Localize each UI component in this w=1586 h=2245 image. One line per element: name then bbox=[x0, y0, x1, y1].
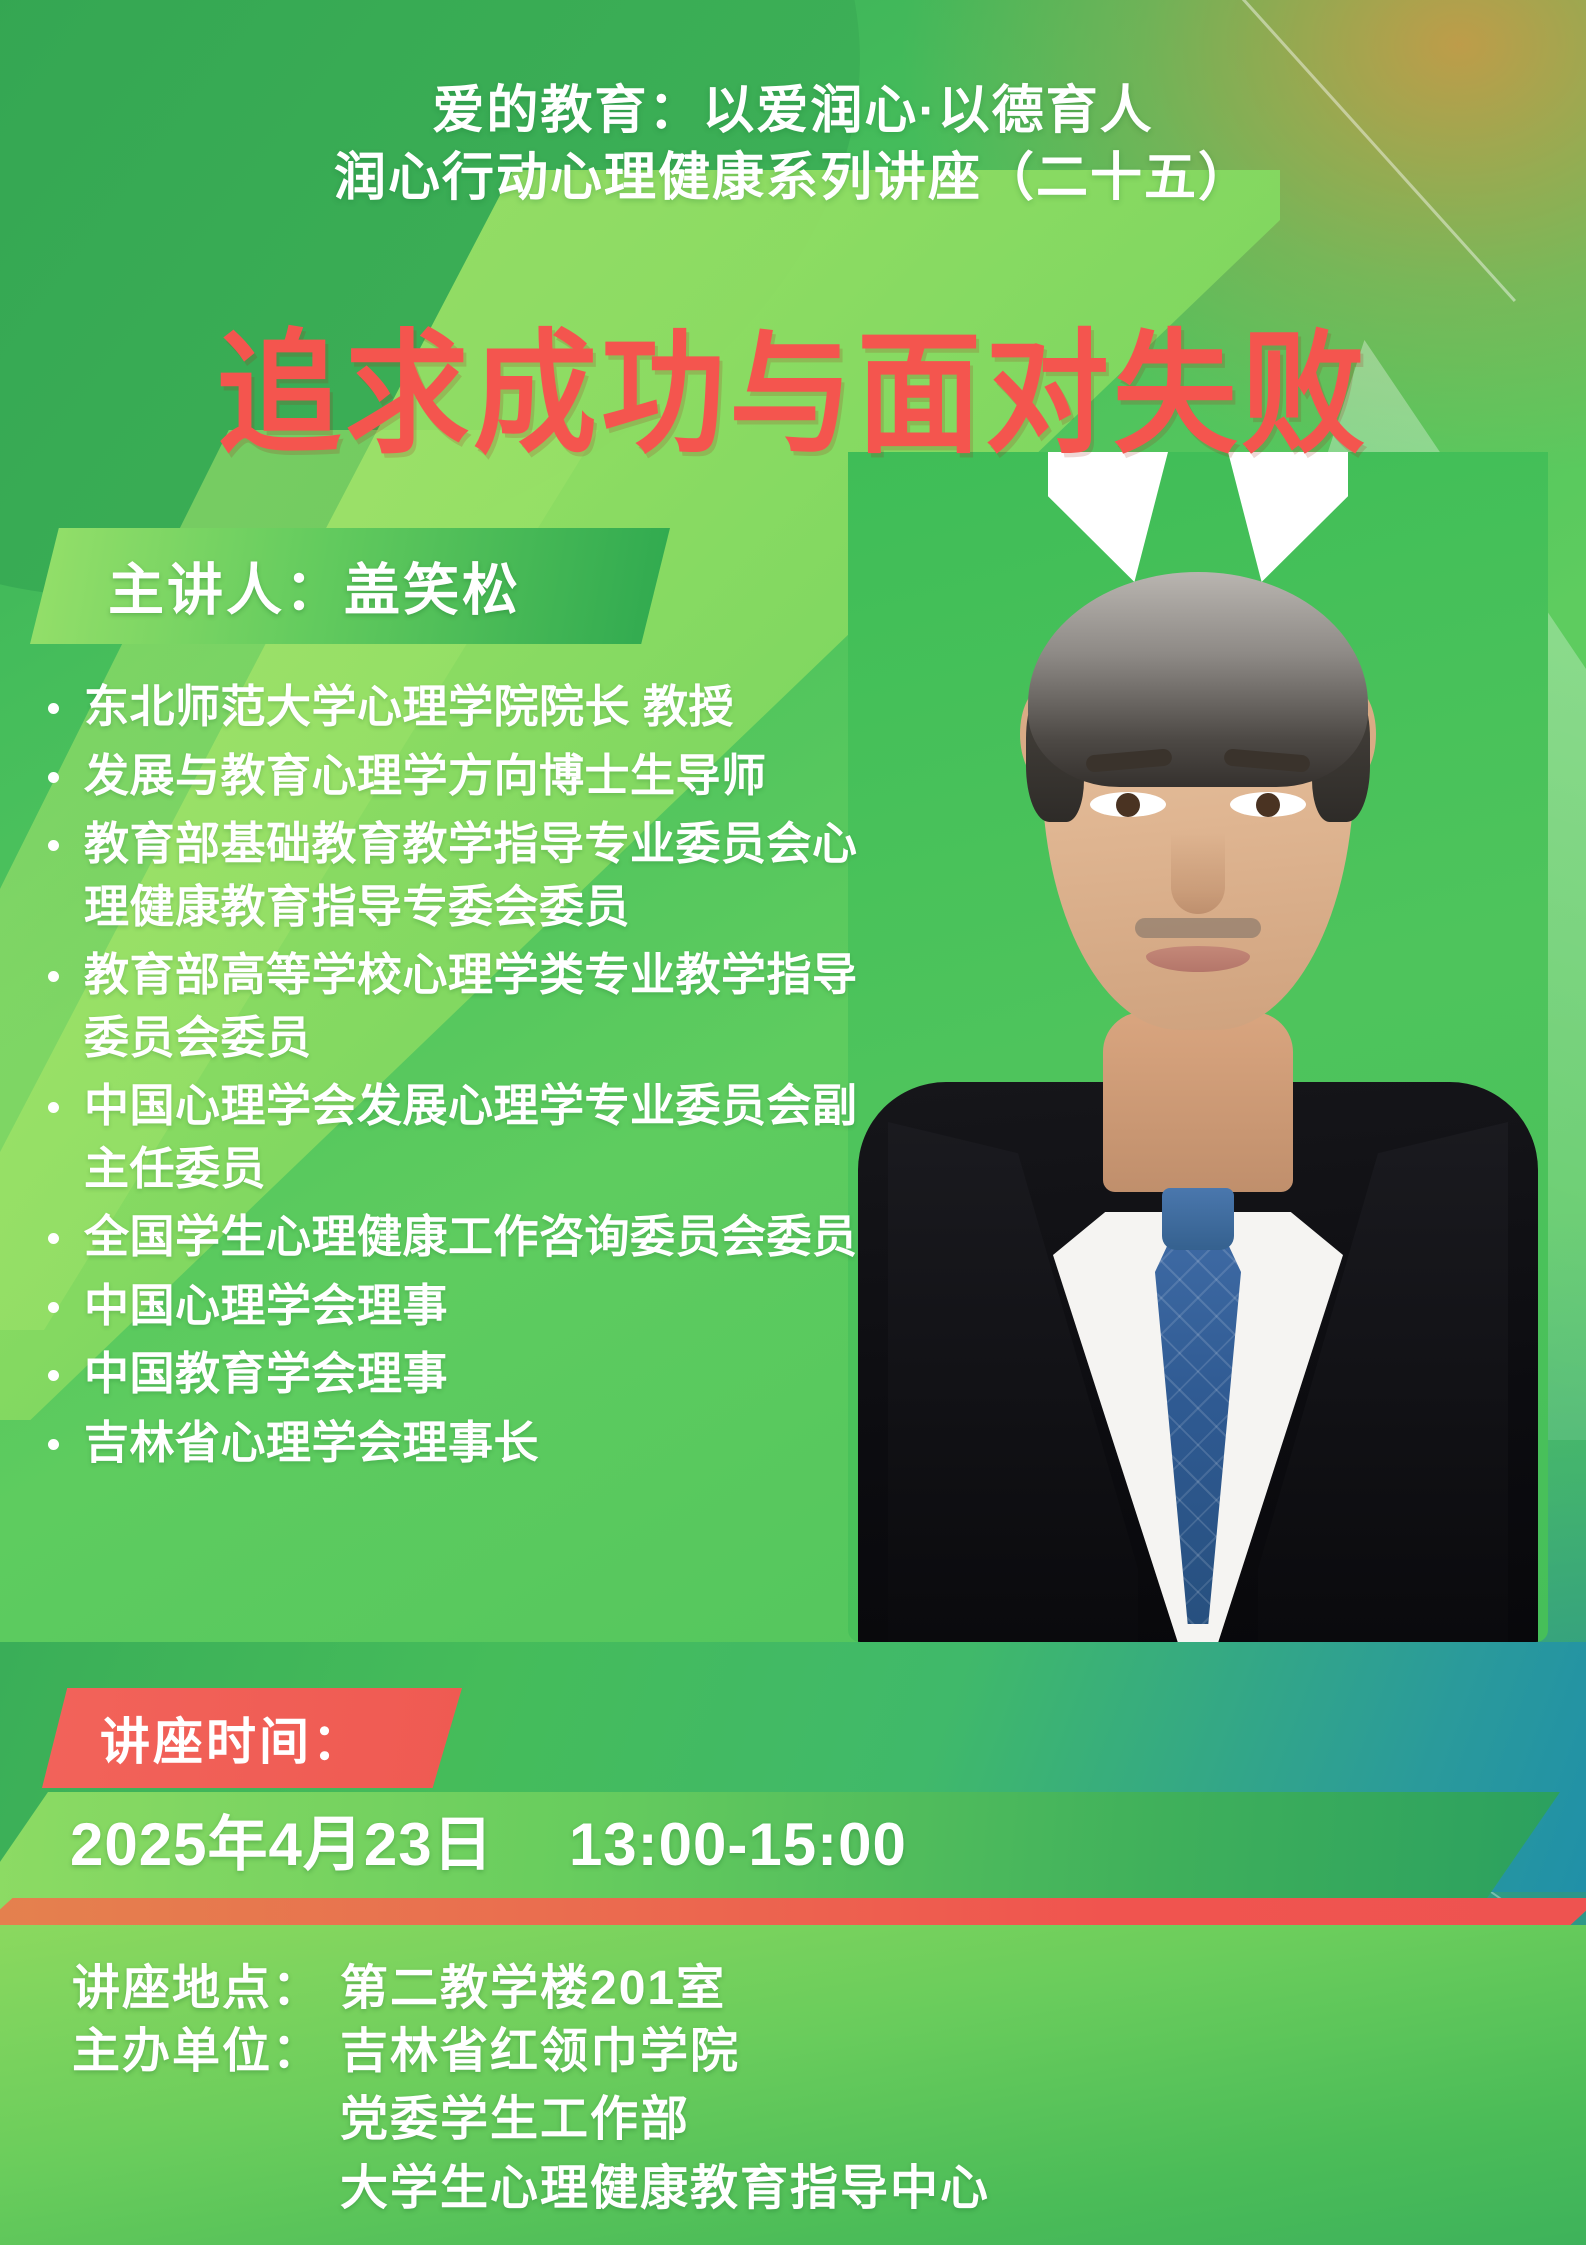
poster-header: 爱的教育：以爱润心·以德育人 润心行动心理健康系列讲座（二十五） bbox=[0, 78, 1586, 211]
lecture-date: 2025年4月23日 bbox=[70, 1811, 494, 1878]
lecture-poster: 爱的教育：以爱润心·以德育人 润心行动心理健康系列讲座（二十五） 追求成功与面对… bbox=[0, 0, 1586, 2245]
list-item: 中国心理学会发展心理学专业委员会副主任委员 bbox=[42, 1075, 872, 1200]
list-item: 教育部高等学校心理学类专业教学指导委员会委员 bbox=[42, 944, 872, 1069]
lecture-time-value: 2025年4月23日 13:00-15:00 bbox=[70, 1796, 907, 1883]
portrait-eye-right bbox=[1230, 792, 1306, 817]
list-item: 发展与教育心理学方向博士生导师 bbox=[42, 745, 872, 808]
portrait-eye-left bbox=[1090, 792, 1166, 817]
portrait-collar-left bbox=[1048, 452, 1168, 582]
portrait-hair bbox=[1028, 572, 1368, 787]
speaker-portrait-photo bbox=[848, 452, 1548, 1642]
organizer-value-primary: 吉林省红领巾学院 bbox=[340, 2023, 740, 2082]
location-value: 第二教学楼201室 bbox=[340, 1960, 726, 2019]
portrait-background bbox=[848, 452, 1548, 1642]
speaker-credentials-list: 东北师范大学心理学院院长 教授 发展与教育心理学方向博士生导师 教育部基础教育教… bbox=[42, 676, 872, 1481]
portrait-neck bbox=[1103, 1012, 1293, 1192]
header-line-2: 润心行动心理健康系列讲座（二十五） bbox=[0, 145, 1586, 212]
location-row: 讲座地点： 第二教学楼201室 bbox=[72, 1960, 990, 2019]
lecture-time-range: 13:00-15:00 bbox=[569, 1811, 907, 1878]
list-item: 教育部基础教育教学指导专业委员会心理健康教育指导专委会委员 bbox=[42, 813, 872, 938]
header-line-1: 爱的教育：以爱润心·以德育人 bbox=[0, 78, 1586, 145]
speaker-banner-label: 主讲人：盖笑松 bbox=[108, 546, 521, 627]
lecture-details: 讲座地点： 第二教学楼201室 主办单位： 吉林省红领巾学院 党委学生工作部 大… bbox=[72, 1960, 990, 2218]
organizer-row: 主办单位： 吉林省红领巾学院 bbox=[72, 2023, 990, 2082]
lecture-time-chip: 讲座时间： bbox=[42, 1688, 462, 1788]
portrait-collar-right bbox=[1228, 452, 1348, 582]
list-item: 中国教育学会理事 bbox=[42, 1343, 872, 1406]
portrait-moustache bbox=[1135, 918, 1261, 938]
list-item: 中国心理学会理事 bbox=[42, 1275, 872, 1338]
main-title: 追求成功与面对失败 bbox=[0, 330, 1586, 460]
speaker-banner: 主讲人：盖笑松 bbox=[30, 528, 670, 644]
list-item: 全国学生心理健康工作咨询委员会委员 bbox=[42, 1206, 872, 1269]
list-item: 东北师范大学心理学院院长 教授 bbox=[42, 676, 872, 739]
lecture-time-label: 讲座时间： bbox=[100, 1702, 365, 1774]
organizer-value-tertiary: 大学生心理健康教育指导中心 bbox=[340, 2160, 990, 2219]
portrait-nose bbox=[1171, 832, 1225, 914]
main-title-text: 追求成功与面对失败 bbox=[217, 325, 1369, 466]
list-item: 吉林省心理学会理事长 bbox=[42, 1412, 872, 1475]
portrait-necktie-knot bbox=[1162, 1188, 1234, 1250]
organizer-value-secondary: 党委学生工作部 bbox=[340, 2091, 990, 2150]
organizer-label: 主办单位： bbox=[72, 2023, 340, 2082]
location-label: 讲座地点： bbox=[72, 1960, 340, 2019]
